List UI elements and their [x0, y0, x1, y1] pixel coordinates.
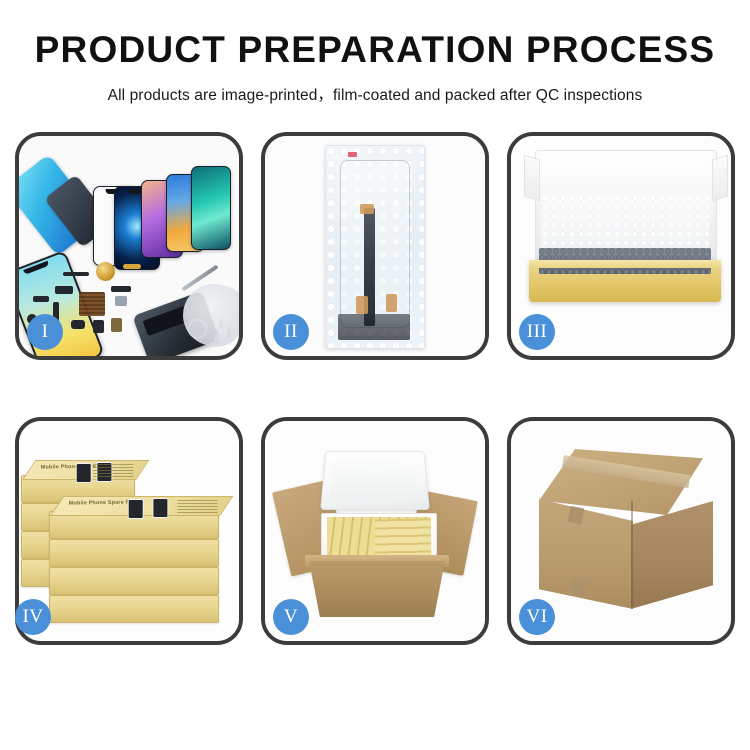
kraft-box-lid: Mobile Phone Spare Parts — [22, 460, 149, 480]
step-badge-2: II — [273, 314, 309, 350]
cable-part — [111, 286, 131, 292]
gold-flex-part — [123, 264, 141, 269]
process-step-1: I — [15, 132, 243, 360]
bubble-wrap-bag — [325, 145, 425, 349]
small-flex-part — [33, 296, 49, 302]
flex-pad — [360, 204, 374, 214]
kraft-box-lid: Mobile Phone Spare Parts — [50, 496, 233, 516]
notch-icon — [23, 261, 49, 275]
kraft-box — [49, 539, 219, 567]
kraft-box — [49, 567, 219, 595]
step-badge-1: I — [27, 314, 63, 350]
metal-bracket-part — [115, 296, 127, 306]
box-spec-lines — [177, 500, 217, 513]
box-window-screen — [152, 498, 168, 518]
kraft-box-tray — [529, 260, 721, 302]
carton-body — [309, 561, 445, 617]
speaker-coil-part — [96, 262, 115, 281]
page-title: PRODUCT PREPARATION PROCESS — [0, 30, 750, 71]
process-step-3: III — [507, 132, 735, 360]
button-flex-part — [71, 320, 85, 329]
battery-connector-part — [111, 318, 122, 332]
phone-teal-screen — [191, 166, 231, 250]
flex-pad — [386, 294, 397, 312]
box-window-screen — [76, 463, 92, 483]
chip-grid-part — [79, 292, 105, 316]
box-stack: Mobile Phone Spare Parts Mobile Phone Sp… — [19, 421, 239, 641]
red-label-sticker — [348, 152, 357, 157]
kraft-box: Mobile Phone Spare Parts — [49, 511, 219, 539]
process-step-5: V — [261, 417, 489, 645]
tray-lip — [529, 260, 721, 268]
box-window-screen — [128, 499, 144, 519]
process-step-4: Mobile Phone Spare Parts Mobile Phone Sp… — [15, 417, 243, 645]
process-step-2: II — [261, 132, 489, 360]
step-4-image: Mobile Phone Spare Parts Mobile Phone Sp… — [19, 421, 239, 641]
yellow-boxes-stack — [375, 519, 432, 560]
connector-part — [55, 286, 73, 294]
carton-front-face — [539, 499, 633, 609]
step-badge-4: IV — [15, 599, 51, 635]
camera-part — [93, 320, 104, 333]
flex-cable-part — [63, 272, 89, 276]
carton-edge-shadow — [631, 501, 633, 607]
step-badge-3: III — [519, 314, 555, 350]
step-badge-6: VI — [519, 599, 555, 635]
process-step-grid: I II III — [0, 128, 750, 698]
flex-pad — [356, 296, 368, 314]
foam-box-lid — [320, 451, 430, 510]
carton-side-face — [631, 501, 713, 609]
step-badge-5: V — [273, 599, 309, 635]
packing-tape-front-upper — [568, 506, 585, 524]
page-subtitle: All products are image-printed，film-coat… — [0, 83, 750, 105]
process-step-6: VI — [507, 417, 735, 645]
packing-tape-front-lower — [570, 578, 587, 596]
connector-band — [338, 314, 410, 340]
lcd-screen-inside — [340, 160, 410, 328]
page-header: PRODUCT PREPARATION PROCESS All products… — [0, 0, 750, 105]
kraft-box — [49, 595, 219, 623]
box-spec-lines — [93, 464, 133, 477]
